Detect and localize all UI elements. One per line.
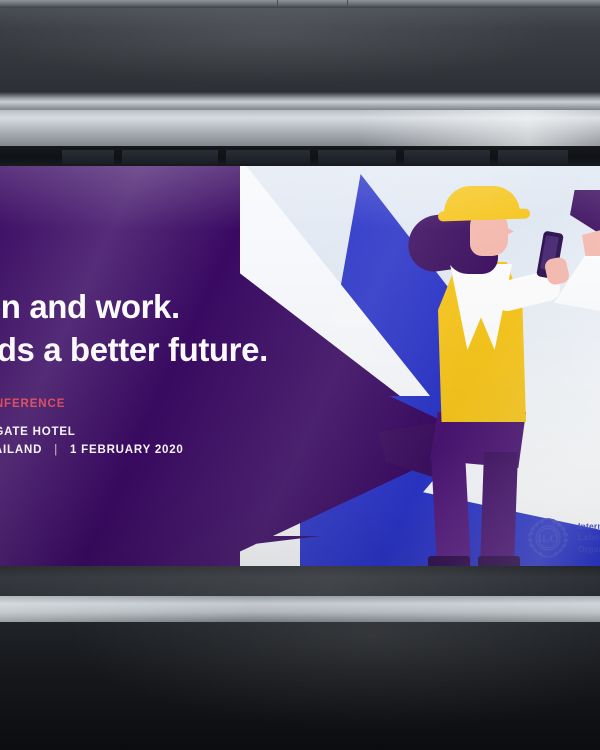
illustration-second-figure: [556, 184, 600, 384]
ilo-word-2: Labour: [578, 532, 600, 543]
venue-block: AMARI WATERGATE HOTEL BANGKOK, THAILAND …: [0, 424, 424, 460]
billboard-copy-block: Women and work. Towards a better future.…: [0, 286, 424, 459]
ceiling-slab: [0, 8, 600, 92]
ceiling-top-rail: [0, 0, 600, 8]
ilo-acronym-text: ILO: [537, 533, 558, 545]
worker-shoe-right: [478, 556, 520, 566]
ilo-word-1: International: [578, 521, 600, 532]
venue-date: 1 FEBRUARY 2020: [70, 444, 184, 456]
ilo-laurel-wreath-emblem-icon: ILO: [525, 515, 571, 561]
ceiling-seam: [347, 0, 348, 8]
illustration-female-construction-worker: [408, 180, 538, 566]
ceiling-metal-beam: [0, 110, 600, 146]
venue-hotel: AMARI WATERGATE HOTEL: [0, 424, 424, 442]
worker-leg-right: [480, 452, 518, 566]
headline-line-1: Women and work.: [0, 286, 424, 329]
headline-line-2: Towards a better future.: [0, 329, 424, 372]
station-floor: [0, 622, 600, 750]
venue-separator: |: [46, 442, 66, 460]
base-metal-rail: [0, 596, 600, 622]
ceiling-vent: [498, 150, 568, 164]
conference-eyebrow-label: REGIONAL CONFERENCE: [0, 398, 424, 410]
worker-shoe-left: [428, 556, 470, 566]
billboard-photo-scene: Women and work. Towards a better future.…: [0, 0, 600, 750]
ceiling-vent: [226, 150, 310, 164]
ilo-word-3: Organization: [578, 544, 600, 555]
ceiling-vent: [122, 150, 218, 164]
ceiling-vent: [62, 150, 114, 164]
ceiling-vent: [404, 150, 490, 164]
billboard-panel: Women and work. Towards a better future.…: [0, 166, 600, 566]
venue-city-date: BANGKOK, THAILAND | 1 FEBRUARY 2020: [0, 442, 424, 460]
worker-hard-hat-brim: [438, 208, 530, 221]
ilo-wordmark: International Labour Organization: [578, 521, 600, 555]
ilo-logo: ILO International Labour Organization: [525, 510, 600, 566]
ceiling-seam: [277, 0, 278, 8]
worker-nose: [504, 226, 514, 236]
venue-city: BANGKOK, THAILAND: [0, 444, 42, 456]
billboard-base-ledge: [0, 566, 600, 596]
ceiling-lip: [0, 92, 600, 110]
worker-leg-left: [431, 452, 471, 566]
ceiling-vent: [318, 150, 396, 164]
